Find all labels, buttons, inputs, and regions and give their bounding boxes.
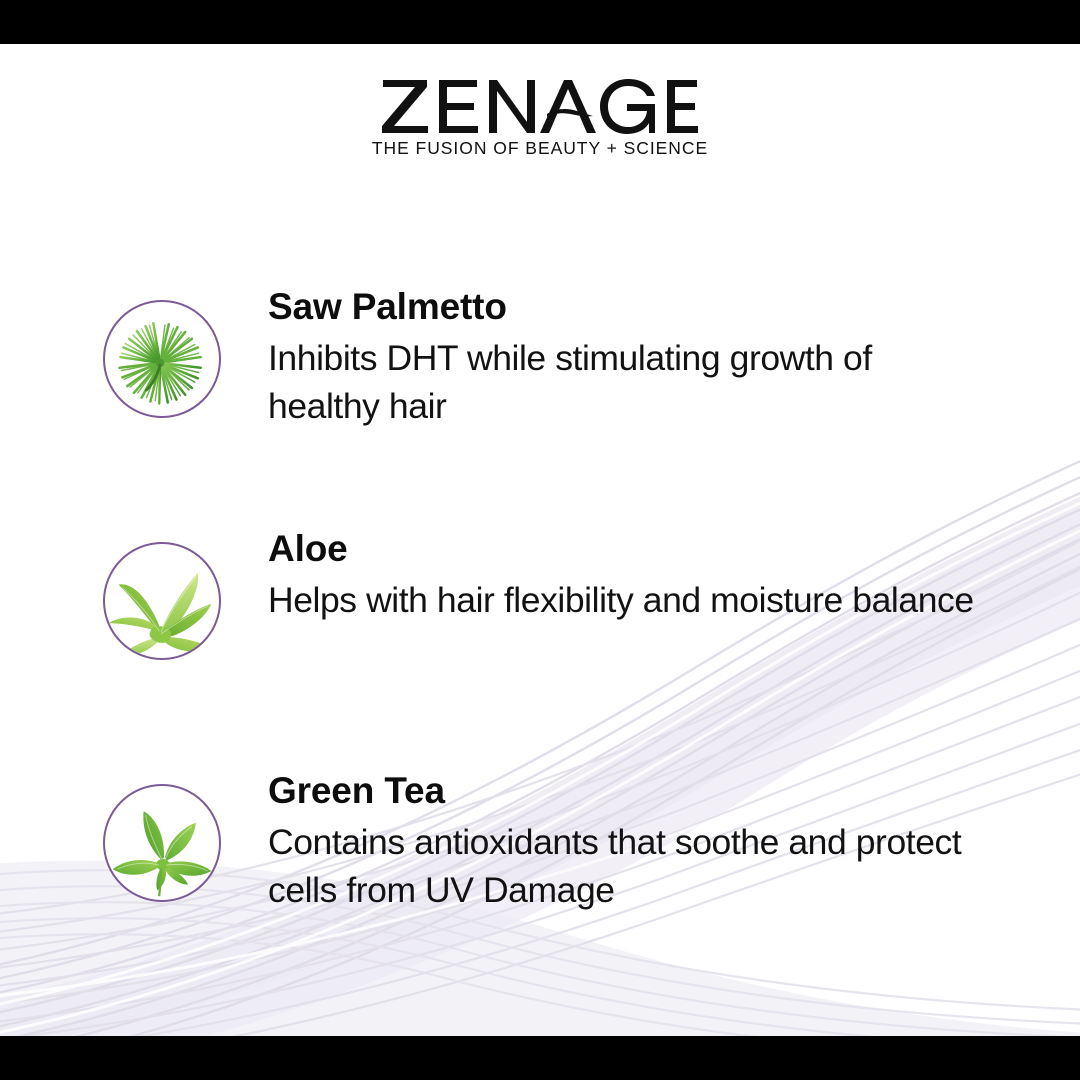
letterbox-bar-bottom [0, 1036, 1080, 1080]
ingredient-description: Contains antioxidants that soothe and pr… [268, 818, 988, 914]
brand-logo: THE FUSION OF BEAUTY + SCIENCE [0, 78, 1080, 159]
green-tea-leaves-icon [105, 786, 219, 900]
ingredient-badge-green-tea [103, 784, 221, 902]
aloe-leaves-icon [105, 544, 219, 658]
ingredient-row-green-tea: Green Tea Contains antioxidants that soo… [0, 772, 1080, 914]
ingredient-badge-aloe [103, 542, 221, 660]
ingredient-row-aloe: Aloe Helps with hair flexibility and moi… [0, 530, 1080, 660]
zenagen-wordmark-icon [381, 78, 699, 134]
ingredient-badge-saw-palmetto [103, 300, 221, 418]
ingredient-text-green-tea: Green Tea Contains antioxidants that soo… [268, 772, 1080, 914]
letterbox-bar-top [0, 0, 1080, 44]
ingredient-description: Helps with hair flexibility and moisture… [268, 576, 988, 624]
ingredient-title: Saw Palmetto [268, 288, 1040, 325]
ingredient-description: Inhibits DHT while stimulating growth of… [268, 334, 988, 430]
ingredient-text-saw-palmetto: Saw Palmetto Inhibits DHT while stimulat… [268, 288, 1080, 430]
product-ingredients-infographic: THE FUSION OF BEAUTY + SCIENCE [0, 0, 1080, 1080]
ingredient-title: Aloe [268, 530, 1040, 567]
saw-palmetto-frond-icon [105, 302, 219, 416]
ingredient-row-saw-palmetto: Saw Palmetto Inhibits DHT while stimulat… [0, 288, 1080, 430]
ingredient-title: Green Tea [268, 772, 1040, 809]
ingredient-text-aloe: Aloe Helps with hair flexibility and moi… [268, 530, 1080, 624]
brand-tagline: THE FUSION OF BEAUTY + SCIENCE [0, 138, 1080, 159]
